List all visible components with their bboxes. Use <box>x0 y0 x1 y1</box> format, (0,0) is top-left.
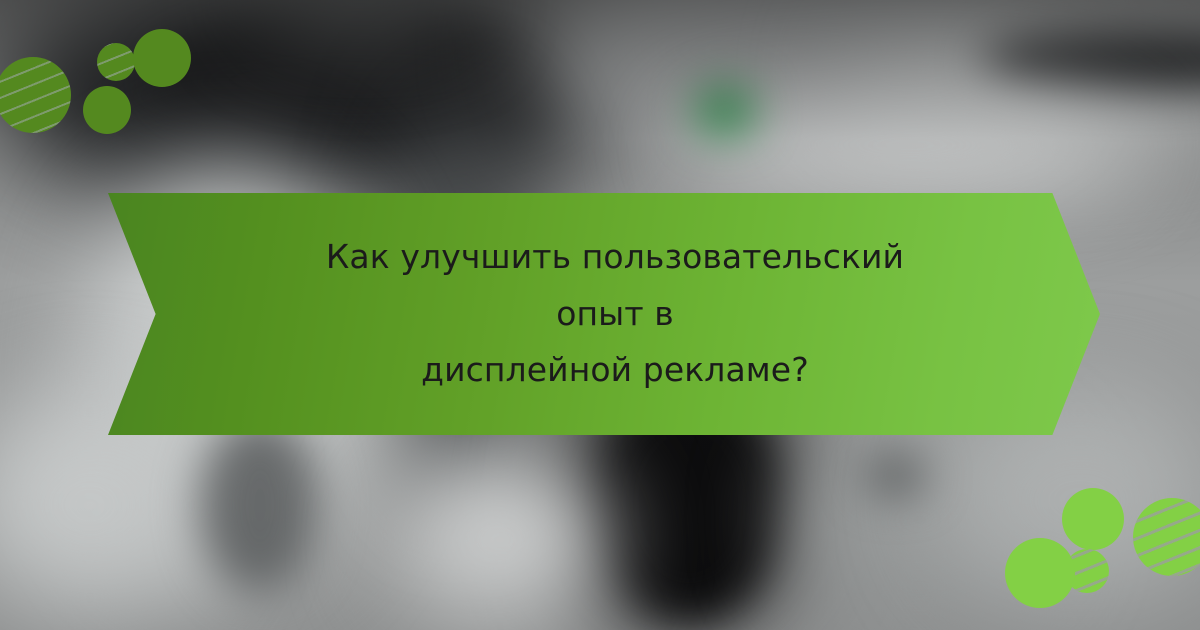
banner-canvas: Как улучшить пользовательский опыт в дис… <box>0 0 1200 630</box>
decor-circle-striped-small-topleft <box>97 43 135 81</box>
decor-circle-plain-large-bottomright <box>1005 538 1075 608</box>
headline-text: Как улучшить пользовательский опыт в дис… <box>285 229 945 399</box>
decor-circle-plain-medium-bottomright <box>1062 488 1124 550</box>
decor-circle-plain-large-topleft <box>133 29 191 87</box>
decor-circle-plain-small-topleft <box>83 86 131 134</box>
headline-banner: Как улучшить пользовательский опыт в дис… <box>108 193 1100 435</box>
